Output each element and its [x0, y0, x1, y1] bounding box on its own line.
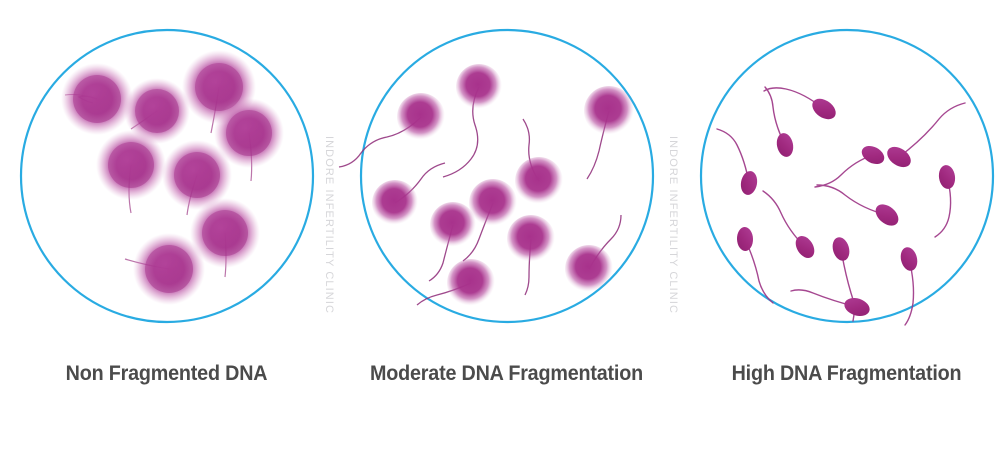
cell-blob: [125, 233, 205, 305]
petri-dish-high: [697, 25, 997, 327]
cell-head: [565, 245, 613, 293]
panel-non-fragmented: Non Fragmented DNA: [0, 0, 333, 450]
cell-head: [430, 202, 476, 248]
petri-dish-non-fragmented: [17, 25, 317, 327]
cell-head: [397, 93, 445, 141]
sperm-head: [736, 227, 753, 252]
cell-head: [456, 64, 502, 110]
cell-group: [61, 50, 284, 305]
dish-contents-svg: [357, 25, 657, 327]
caption-moderate-fragmentation: Moderate DNA Fragmentation: [350, 362, 663, 386]
cell-head: [515, 157, 563, 205]
sperm-head: [937, 164, 956, 190]
watermark-clinic-1: INDORE INFERTILITY CLINIC: [323, 136, 335, 314]
caption-high-fragmentation: High DNA Fragmentation: [690, 362, 1000, 386]
sperm-head: [883, 143, 914, 172]
sperm-head: [871, 200, 902, 230]
cell-head: [447, 259, 495, 307]
cell-head: [372, 180, 418, 226]
illustration-canvas: Non Fragmented DNA: [0, 0, 1000, 450]
sperm-head: [739, 170, 759, 196]
cell-head: [507, 215, 555, 263]
panel-moderate-fragmentation: Moderate DNA Fragmentation: [340, 0, 673, 450]
petri-dish-moderate: [357, 25, 657, 327]
cell-blob: [96, 130, 166, 213]
watermark-clinic-2: INDORE INFERTILITY CLINIC: [667, 136, 679, 314]
dish-contents-svg: [17, 25, 317, 327]
dish-contents-svg: [697, 25, 997, 327]
cell-head-group: [372, 64, 634, 307]
panel-high-fragmentation: High DNA Fragmentation: [680, 0, 1000, 450]
sperm-head: [808, 95, 839, 124]
sperm-head: [858, 142, 887, 167]
cell-head: [469, 179, 517, 227]
sperm-head: [830, 235, 852, 262]
cell-head: [584, 86, 634, 136]
sperm-head-group: [736, 95, 956, 320]
cell-blob: [61, 63, 133, 135]
sperm-head: [774, 132, 795, 159]
caption-non-fragmented: Non Fragmented DNA: [10, 362, 323, 386]
sperm-head: [842, 295, 872, 319]
sperm-head: [898, 245, 919, 272]
